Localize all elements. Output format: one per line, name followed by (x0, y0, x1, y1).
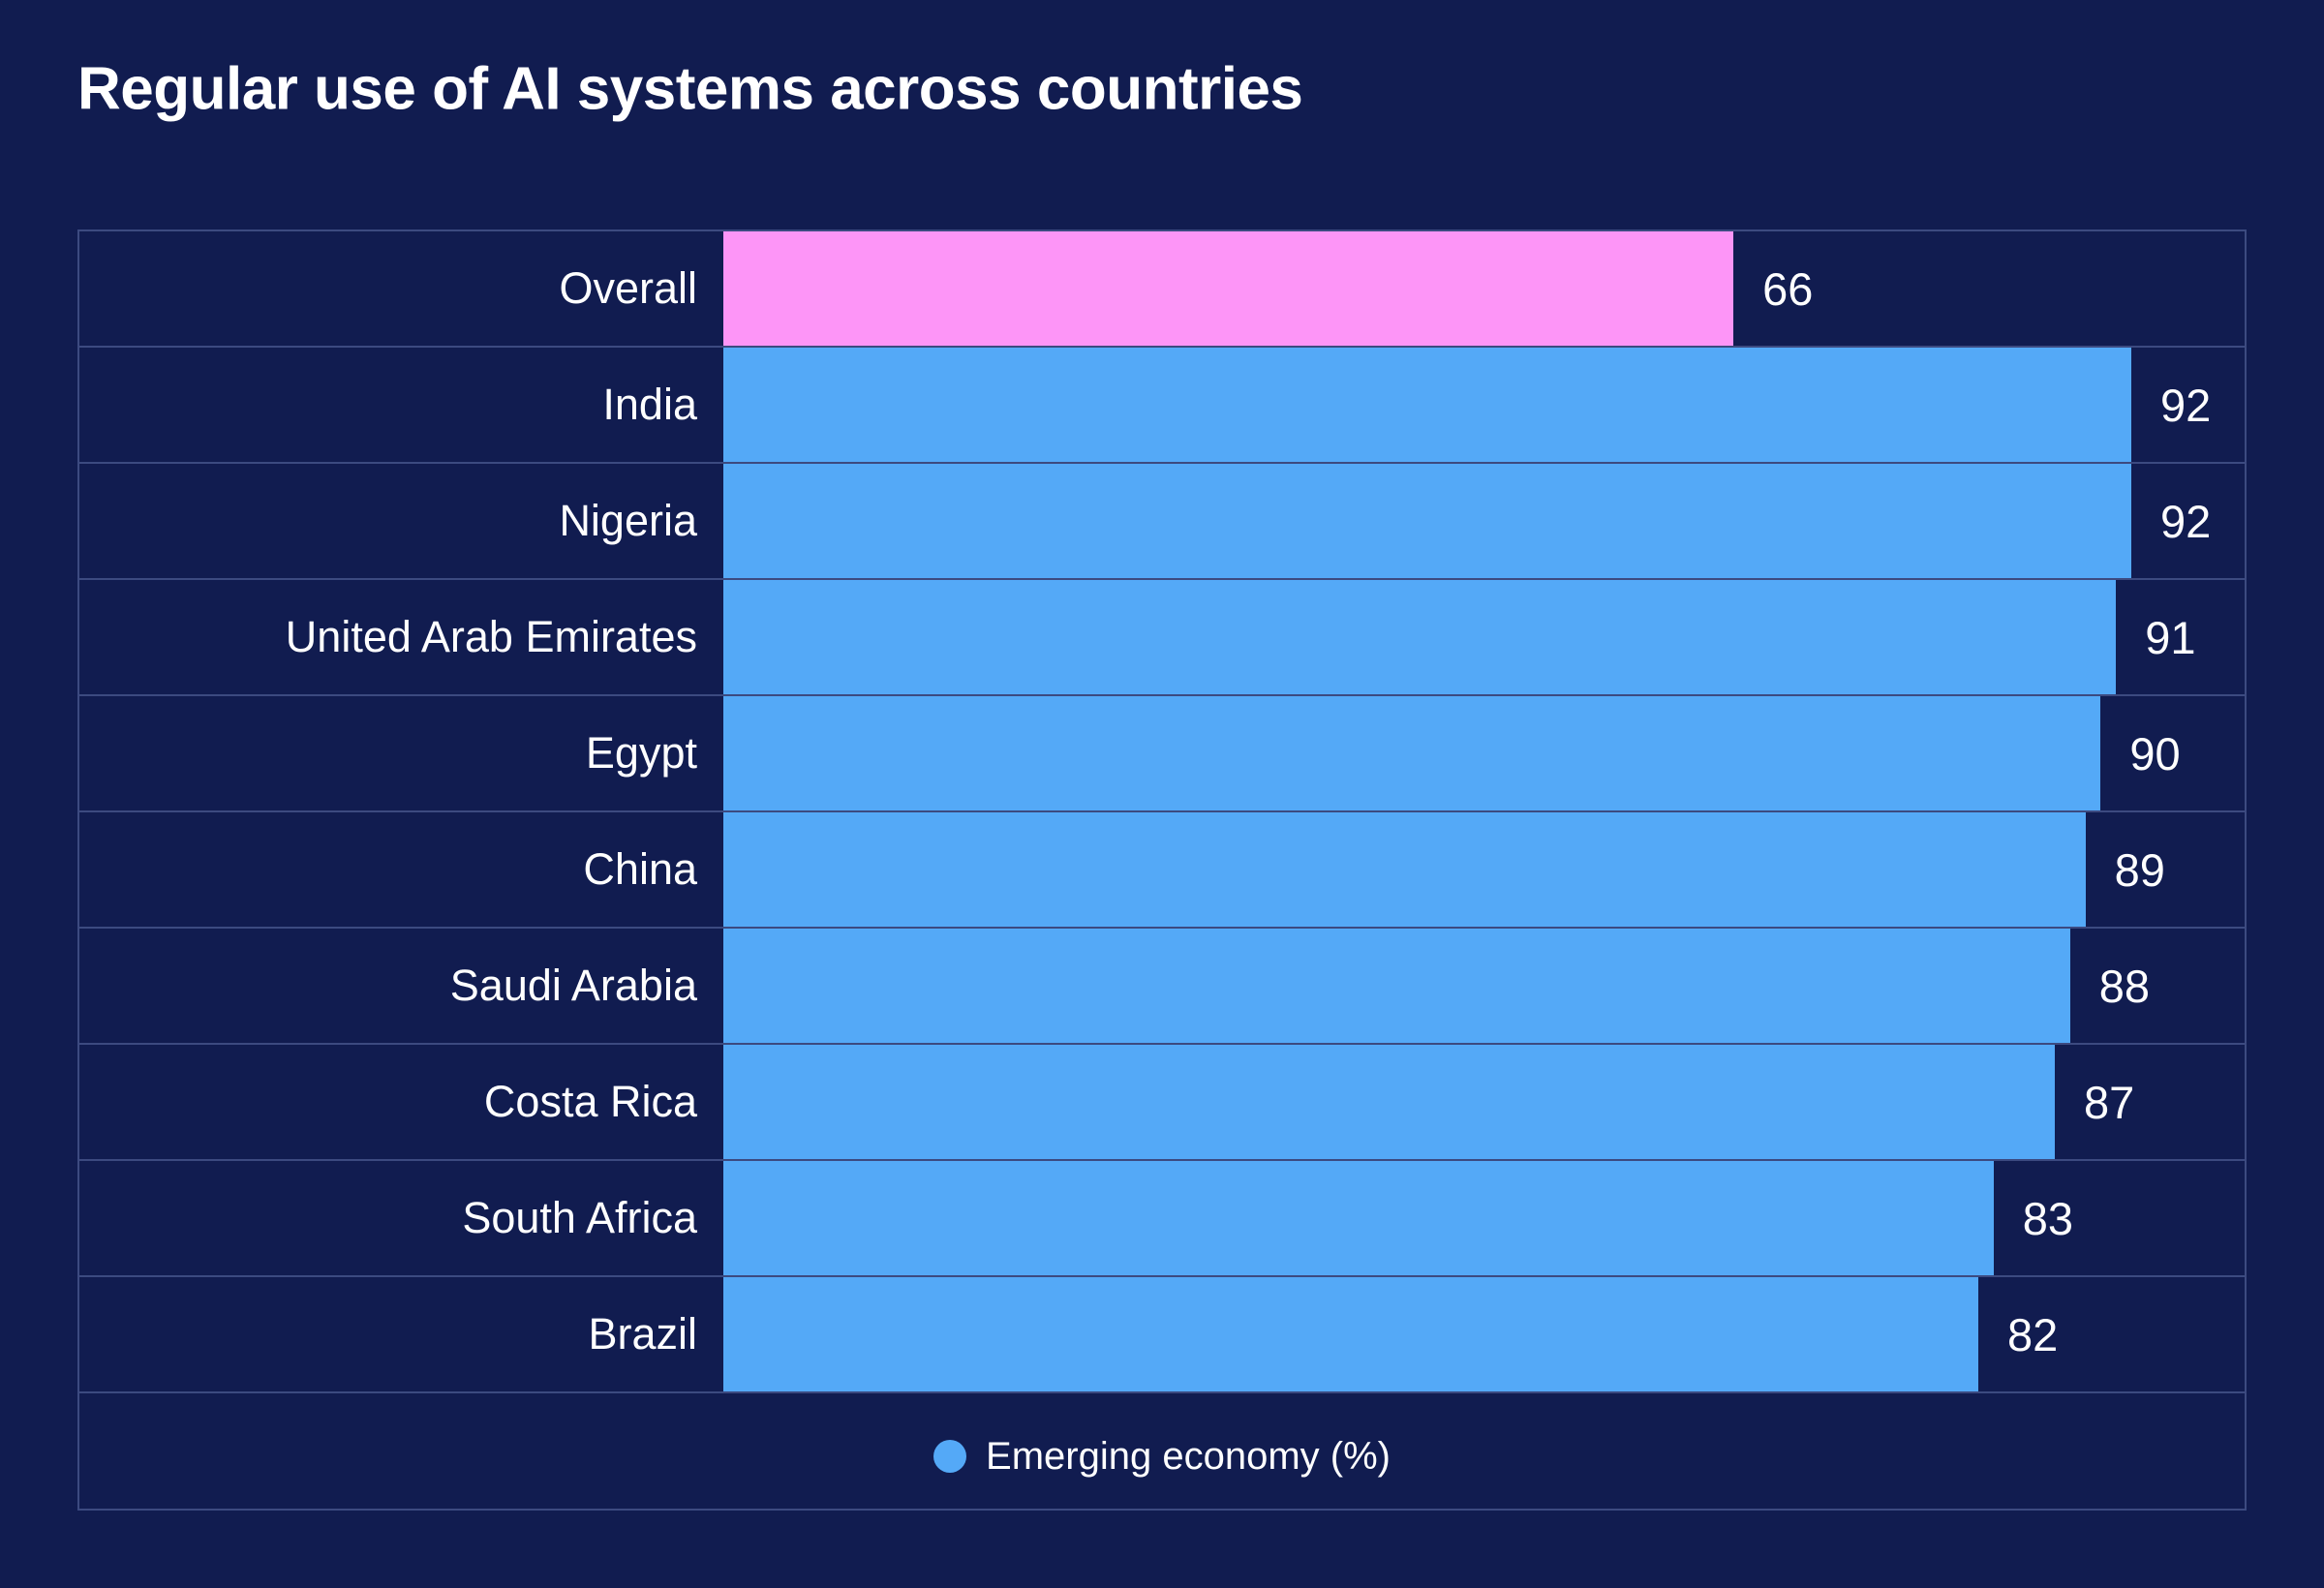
bar-row-label: Nigeria (79, 464, 719, 578)
chart-plot-area: Overall66India92Nigeria92United Arab Emi… (77, 229, 2247, 1511)
bar-row: Costa Rica87 (79, 1045, 2245, 1161)
bar-row-label: Egypt (79, 696, 719, 810)
bar-value-label: 66 (1733, 231, 1813, 346)
bar-value-label: 90 (2100, 696, 2180, 810)
bar[interactable] (723, 348, 2131, 462)
bar-row: Nigeria92 (79, 464, 2245, 580)
bar-row: United Arab Emirates91 (79, 580, 2245, 696)
bar[interactable] (723, 464, 2131, 578)
chart-title: Regular use of AI systems across countri… (77, 55, 1302, 124)
bar-row-label: Brazil (79, 1277, 719, 1391)
bar-row: Egypt90 (79, 696, 2245, 812)
bar-track: 83 (723, 1161, 2245, 1275)
bar-row-label: Saudi Arabia (79, 929, 719, 1043)
bar-value-label: 82 (1978, 1277, 2058, 1391)
bar[interactable] (723, 929, 2070, 1043)
bar-value-label: 83 (1994, 1161, 2073, 1275)
bar[interactable] (723, 812, 2086, 927)
bar-row: Overall66 (79, 231, 2245, 348)
bar-track: 89 (723, 812, 2245, 927)
bar[interactable] (723, 231, 1733, 346)
bar-row-label: India (79, 348, 719, 462)
bar-track: 91 (723, 580, 2245, 694)
bar-row-label: Costa Rica (79, 1045, 719, 1159)
bar-track: 88 (723, 929, 2245, 1043)
legend-circle-icon (933, 1440, 966, 1473)
bar[interactable] (723, 696, 2100, 810)
bar-row-label: Overall (79, 231, 719, 346)
bar-value-label: 87 (2055, 1045, 2134, 1159)
bar-row: Saudi Arabia88 (79, 929, 2245, 1045)
bar-value-label: 89 (2086, 812, 2165, 927)
bar-track: 92 (723, 464, 2245, 578)
bar-row: India92 (79, 348, 2245, 464)
bar-track: 87 (723, 1045, 2245, 1159)
bar-track: 92 (723, 348, 2245, 462)
bar-track: 82 (723, 1277, 2245, 1391)
bar-track: 90 (723, 696, 2245, 810)
bar-row-label: China (79, 812, 719, 927)
legend-label: Emerging economy (%) (986, 1435, 1391, 1479)
bar-rows: Overall66India92Nigeria92United Arab Emi… (79, 231, 2245, 1393)
bar[interactable] (723, 1045, 2055, 1159)
bar-value-label: 92 (2131, 464, 2211, 578)
bar-row-label: South Africa (79, 1161, 719, 1275)
bar-value-label: 91 (2116, 580, 2195, 694)
chart-legend: Emerging economy (%) (79, 1393, 2245, 1519)
bar[interactable] (723, 580, 2116, 694)
legend-item[interactable]: Emerging economy (%) (933, 1435, 1391, 1479)
bar-value-label: 92 (2131, 348, 2211, 462)
bar-row: China89 (79, 812, 2245, 929)
bar-value-label: 88 (2070, 929, 2150, 1043)
bar-row: Brazil82 (79, 1277, 2245, 1393)
bar-row: South Africa83 (79, 1161, 2245, 1277)
bar-track: 66 (723, 231, 2245, 346)
bar[interactable] (723, 1277, 1978, 1391)
bar-row-label: United Arab Emirates (79, 580, 719, 694)
chart-container: Regular use of AI systems across countri… (0, 0, 2324, 1588)
bar[interactable] (723, 1161, 1994, 1275)
